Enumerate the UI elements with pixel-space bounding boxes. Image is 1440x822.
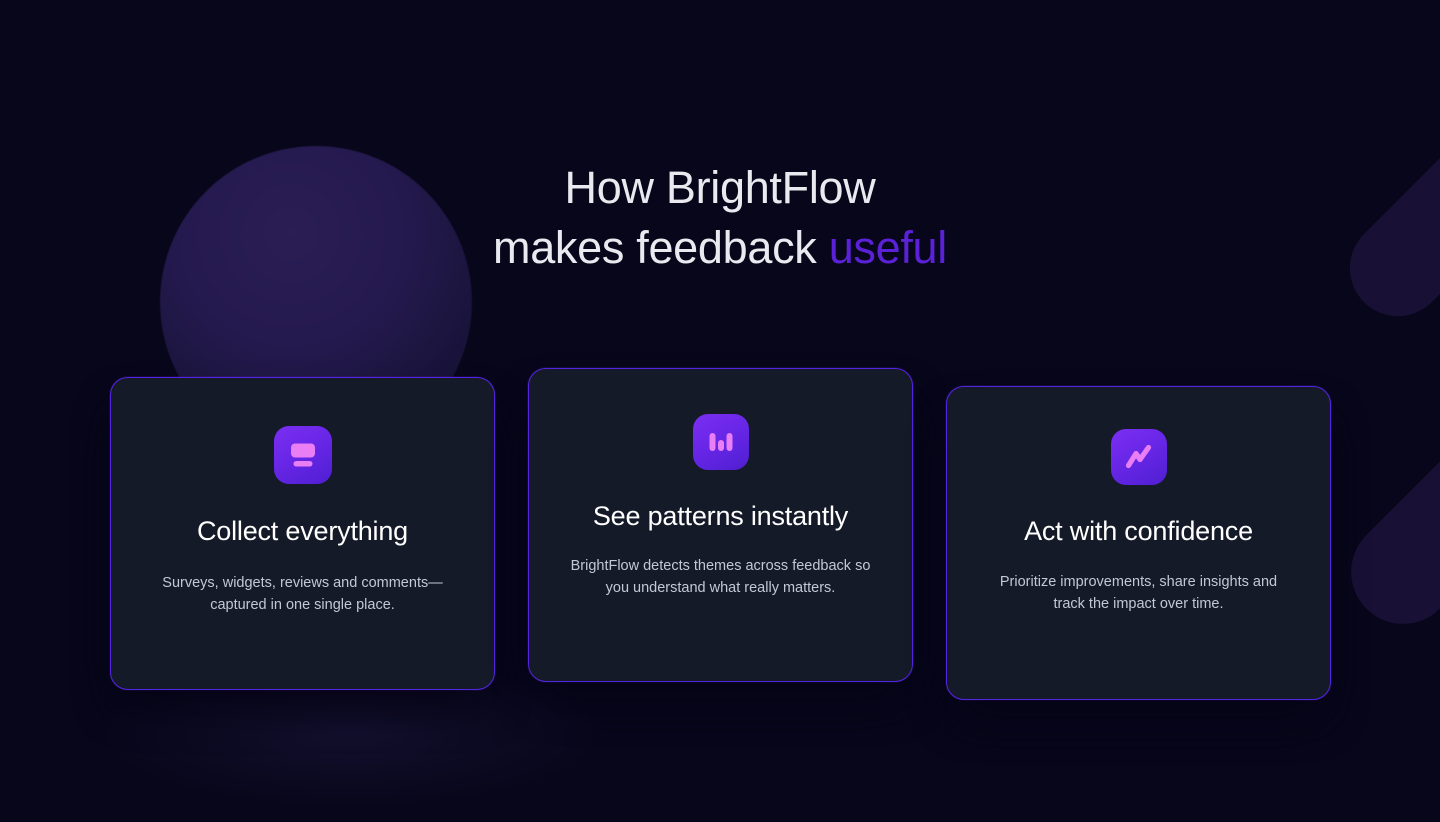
feature-card-grid: Collect everything Surveys, widgets, rev… (0, 0, 1440, 822)
card-description: Prioritize improvements, share insights … (989, 571, 1289, 615)
card-title: Act with confidence (1024, 515, 1253, 547)
stacked-blocks-icon (274, 426, 332, 484)
card-description: BrightFlow detects themes across feedbac… (569, 555, 873, 599)
bar-chart-icon (693, 414, 749, 470)
trending-up-icon (1111, 429, 1167, 485)
feature-card-see-patterns-instantly[interactable]: See patterns instantly BrightFlow detect… (528, 368, 913, 682)
card-title: Collect everything (197, 515, 408, 547)
feature-card-collect-everything[interactable]: Collect everything Surveys, widgets, rev… (110, 377, 495, 690)
card-title: See patterns instantly (593, 500, 848, 532)
feature-card-act-with-confidence[interactable]: Act with confidence Prioritize improveme… (946, 386, 1331, 700)
card-description: Surveys, widgets, reviews and comments—c… (157, 572, 449, 616)
